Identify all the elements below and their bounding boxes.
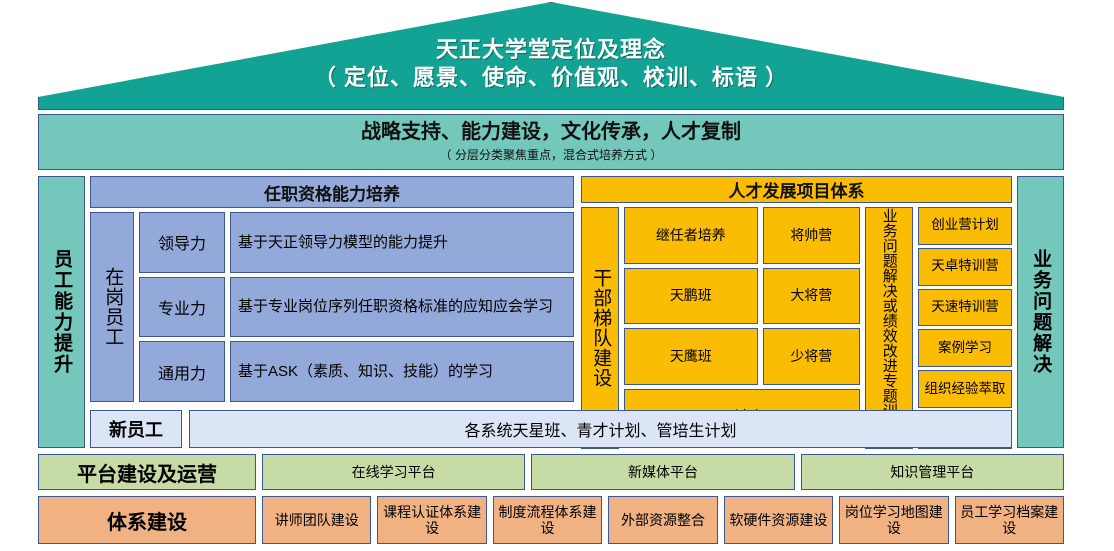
capability-desc-column: 基于天正领导力模型的能力提升 基于专业岗位序列任职资格标准的应知应会学习 基于A… [230, 212, 574, 402]
camp-item[interactable]: 组织经验萃取 [918, 370, 1012, 408]
strategy-band: 战略支持、能力建设，文化传承，人才复制 （ 分层分类聚焦重点，混合式培养方式 ） [38, 114, 1064, 170]
system-item[interactable]: 岗位学习地图建设 [839, 496, 948, 544]
cadre-program-item[interactable]: 大将营 [763, 268, 860, 325]
cadre-program-row: 天鹰班 少将营 [624, 328, 860, 385]
system-item[interactable]: 员工学习档案建设 [955, 496, 1064, 544]
panels-row: 任职资格能力培养 在岗员工 领导力 专业力 通用力 基于天正领导力模型的能力提升… [90, 176, 1012, 402]
platform-item[interactable]: 知识管理平台 [801, 454, 1064, 490]
qualification-panel: 任职资格能力培养 在岗员工 领导力 专业力 通用力 基于天正领导力模型的能力提升… [90, 176, 574, 402]
capability-desc: 基于ASK（素质、知识、技能）的学习 [230, 341, 574, 402]
qualification-panel-body: 在岗员工 领导力 专业力 通用力 基于天正领导力模型的能力提升 基于专业岗位序列… [90, 212, 574, 402]
capability-name[interactable]: 领导力 [139, 212, 225, 273]
strategy-band-main: 战略支持、能力建设，文化传承，人才复制 [361, 121, 741, 143]
new-employee-row: 新员工 各系统天星班、青才计划、管培生计划 [90, 410, 1012, 448]
cadre-program-item[interactable]: 将帅营 [763, 207, 860, 264]
platform-item[interactable]: 在线学习平台 [262, 454, 525, 490]
capability-name[interactable]: 通用力 [139, 341, 225, 402]
right-pillar-business-problem-solving: 业务问题解决 [1017, 176, 1064, 448]
system-item[interactable]: 制度流程体系建设 [493, 496, 602, 544]
roof-text-block: 天正大学堂定位及理念 （ 定位、愿景、使命、价值观、校训、标语 ） [38, 36, 1064, 92]
platform-row: 平台建设及运营 在线学习平台 新媒体平台 知识管理平台 [38, 454, 1064, 490]
cadre-program-item[interactable]: 天鹰班 [624, 328, 758, 385]
camp-item[interactable]: 天卓特训营 [918, 248, 1012, 286]
roof-title-line1: 天正大学堂定位及理念 [38, 36, 1064, 64]
strategy-band-sub: （ 分层分类聚焦重点，混合式培养方式 ） [440, 146, 663, 163]
camp-item[interactable]: 创业营计划 [918, 207, 1012, 245]
camp-item[interactable]: 天速特训营 [918, 289, 1012, 327]
system-item[interactable]: 讲师团队建设 [262, 496, 371, 544]
center-content: 任职资格能力培养 在岗员工 领导力 专业力 通用力 基于天正领导力模型的能力提升… [90, 176, 1012, 448]
pyramid-diagram-canvas: 天正大学堂定位及理念 （ 定位、愿景、使命、价值观、校训、标语 ） 战略支持、能… [0, 0, 1114, 551]
talent-panel-title: 人才发展项目体系 [581, 176, 1012, 203]
system-row-head: 体系建设 [38, 496, 256, 544]
left-pillar-employee-capability: 员工能力提升 [38, 176, 85, 448]
new-employee-tag[interactable]: 新员工 [90, 410, 182, 448]
camp-item[interactable]: 案例学习 [918, 329, 1012, 367]
cadre-program-item[interactable]: 少将营 [763, 328, 860, 385]
platform-row-head: 平台建设及运营 [38, 454, 256, 490]
new-employee-programs: 各系统天星班、青才计划、管培生计划 [189, 410, 1012, 448]
onjob-employee-label: 在岗员工 [90, 212, 134, 402]
roof-section: 天正大学堂定位及理念 （ 定位、愿景、使命、价值观、校训、标语 ） [38, 2, 1064, 110]
system-row: 体系建设 讲师团队建设 课程认证体系建设 制度流程体系建设 外部资源整合 软硬件… [38, 496, 1064, 544]
cadre-program-row: 天鹏班 大将营 [624, 268, 860, 325]
capability-desc: 基于天正领导力模型的能力提升 [230, 212, 574, 273]
system-item[interactable]: 课程认证体系建设 [377, 496, 486, 544]
cadre-program-row: 继任者培养 将帅营 [624, 207, 860, 264]
main-body: 员工能力提升 任职资格能力培养 在岗员工 领导力 专业力 通用力 基于天正领导 [38, 176, 1064, 448]
qualification-panel-title: 任职资格能力培养 [90, 176, 574, 208]
cadre-program-item[interactable]: 继任者培养 [624, 207, 758, 264]
cadre-program-item[interactable]: 天鹏班 [624, 268, 758, 325]
capability-name-column: 领导力 专业力 通用力 [139, 212, 225, 402]
capability-name[interactable]: 专业力 [139, 277, 225, 338]
capability-desc: 基于专业岗位序列任职资格标准的应知应会学习 [230, 277, 574, 338]
system-item[interactable]: 外部资源整合 [608, 496, 717, 544]
talent-development-panel: 人才发展项目体系 干部梯队建设 继任者培养 将帅营 天鹏班 [581, 176, 1012, 402]
system-item[interactable]: 软硬件资源建设 [724, 496, 833, 544]
platform-item[interactable]: 新媒体平台 [531, 454, 794, 490]
roof-title-line2: （ 定位、愿景、使命、价值观、校训、标语 ） [38, 64, 1064, 92]
